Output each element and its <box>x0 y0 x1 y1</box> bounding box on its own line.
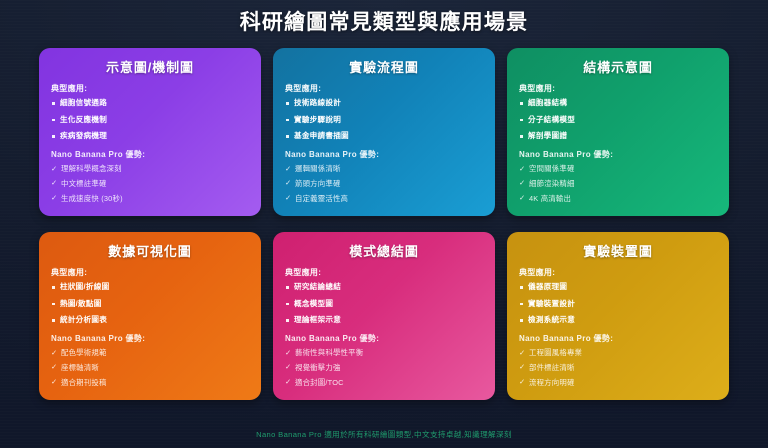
usage-list: 柱狀圖/折線圖 熱圖/散點圖 統計分析圖表 <box>51 283 249 324</box>
usage-item: 實驗裝置設計 <box>519 300 717 308</box>
advantage-list: ✓理解科學概念深刻 ✓中文標註準確 ✓生成速度快 (30秒) <box>51 165 249 202</box>
card-title: 實驗流程圖 <box>285 57 483 76</box>
card-experiment-flow[interactable]: 實驗流程圖 典型應用: 技術路線設計 實驗步驟說明 基金申請書插圖 Nano B… <box>273 48 495 216</box>
check-icon: ✓ <box>519 363 525 370</box>
usage-list: 技術路線設計 實驗步驟說明 基金申請書插圖 <box>285 99 483 140</box>
check-icon: ✓ <box>51 363 57 370</box>
usage-list: 研究結論總結 概念模型圖 理論框架示意 <box>285 283 483 324</box>
advantage-item: ✓箭頭方向準確 <box>285 180 483 187</box>
card-title: 實驗裝置圖 <box>519 241 717 260</box>
usage-item: 研究結論總結 <box>285 283 483 291</box>
advantage-item: ✓適合期刊投稿 <box>51 379 249 386</box>
advantage-item: ✓生成速度快 (30秒) <box>51 195 249 202</box>
advantage-text: 中文標註準確 <box>61 179 107 188</box>
check-icon: ✓ <box>51 179 57 186</box>
advantage-list: ✓藝術性與科學性平衡 ✓視覺衝擊力強 ✓適合封圖/TOC <box>285 349 483 386</box>
usage-item: 概念模型圖 <box>285 300 483 308</box>
check-icon: ✓ <box>519 194 525 201</box>
card-pattern-summary[interactable]: 模式總結圖 典型應用: 研究結論總結 概念模型圖 理論框架示意 Nano Ban… <box>273 232 495 400</box>
advantage-item: ✓流程方向明確 <box>519 379 717 386</box>
advantage-heading: Nano Banana Pro 優勢: <box>285 333 483 344</box>
advantage-item: ✓細節渲染精細 <box>519 180 717 187</box>
check-icon: ✓ <box>519 349 525 356</box>
check-icon: ✓ <box>285 349 291 356</box>
card-title: 結構示意圖 <box>519 57 717 76</box>
advantage-text: 部件標註清晰 <box>529 363 575 372</box>
advantage-text: 細節渲染精細 <box>529 179 575 188</box>
advantage-item: ✓空間關係準確 <box>519 165 717 172</box>
usage-item: 生化反應機制 <box>51 116 249 124</box>
usage-item: 疾病發病機理 <box>51 132 249 140</box>
usage-heading: 典型應用: <box>285 267 483 278</box>
card-title: 數據可視化圖 <box>51 241 249 260</box>
usage-item: 統計分析圖表 <box>51 316 249 324</box>
usage-item: 解剖學圖譜 <box>519 132 717 140</box>
advantage-list: ✓配色學術規範 ✓座標軸清晰 ✓適合期刊投稿 <box>51 349 249 386</box>
usage-list: 細胞信號通路 生化反應機制 疾病發病機理 <box>51 99 249 140</box>
advantage-item: ✓自定義靈活性高 <box>285 195 483 202</box>
advantage-text: 邏輯關係清晰 <box>295 164 341 173</box>
usage-item: 檢測系統示意 <box>519 316 717 324</box>
advantage-text: 流程方向明確 <box>529 378 575 387</box>
check-icon: ✓ <box>519 378 525 385</box>
advantage-text: 藝術性與科學性平衡 <box>295 348 363 357</box>
card-title: 示意圖/機制圖 <box>51 57 249 76</box>
advantage-list: ✓工程圖風格專業 ✓部件標註清晰 ✓流程方向明確 <box>519 349 717 386</box>
advantage-item: ✓邏輯關係清晰 <box>285 165 483 172</box>
usage-list: 細胞器結構 分子結構模型 解剖學圖譜 <box>519 99 717 140</box>
advantage-list: ✓邏輯關係清晰 ✓箭頭方向準確 ✓自定義靈活性高 <box>285 165 483 202</box>
check-icon: ✓ <box>519 179 525 186</box>
usage-item: 基金申請書插圖 <box>285 132 483 140</box>
advantage-text: 工程圖風格專業 <box>529 348 582 357</box>
card-title: 模式總結圖 <box>285 241 483 260</box>
advantage-item: ✓視覺衝擊力強 <box>285 364 483 371</box>
advantage-heading: Nano Banana Pro 優勢: <box>285 149 483 160</box>
page-title: 科研繪圖常見類型與應用場景 <box>240 0 529 36</box>
advantage-text: 適合封圖/TOC <box>295 378 344 387</box>
usage-item: 儀器原理圖 <box>519 283 717 291</box>
advantage-heading: Nano Banana Pro 優勢: <box>51 149 249 160</box>
check-icon: ✓ <box>285 378 291 385</box>
check-icon: ✓ <box>519 165 525 172</box>
card-structure-schematic[interactable]: 結構示意圖 典型應用: 細胞器結構 分子結構模型 解剖學圖譜 Nano Bana… <box>507 48 729 216</box>
advantage-item: ✓配色學術規範 <box>51 349 249 356</box>
usage-list: 儀器原理圖 實驗裝置設計 檢測系統示意 <box>519 283 717 324</box>
usage-item: 柱狀圖/折線圖 <box>51 283 249 291</box>
advantage-item: ✓座標軸清晰 <box>51 364 249 371</box>
advantage-text: 理解科學概念深刻 <box>61 164 122 173</box>
advantage-text: 生成速度快 (30秒) <box>61 194 123 203</box>
advantage-item: ✓藝術性與科學性平衡 <box>285 349 483 356</box>
advantage-heading: Nano Banana Pro 優勢: <box>51 333 249 344</box>
advantage-item: ✓4K 高清輸出 <box>519 195 717 202</box>
advantage-text: 配色學術規範 <box>61 348 107 357</box>
card-data-visualization[interactable]: 數據可視化圖 典型應用: 柱狀圖/折線圖 熱圖/散點圖 統計分析圖表 Nano … <box>39 232 261 400</box>
usage-item: 細胞器結構 <box>519 99 717 107</box>
footer-note: Nano Banana Pro 適用於所有科研繪圖類型,中文支持卓越,知識理解深… <box>0 429 768 440</box>
usage-item: 實驗步驟說明 <box>285 116 483 124</box>
advantage-item: ✓工程圖風格專業 <box>519 349 717 356</box>
advantage-text: 4K 高清輸出 <box>529 194 571 203</box>
advantage-item: ✓適合封圖/TOC <box>285 379 483 386</box>
advantage-item: ✓部件標註清晰 <box>519 364 717 371</box>
advantage-item: ✓理解科學概念深刻 <box>51 165 249 172</box>
usage-heading: 典型應用: <box>519 267 717 278</box>
check-icon: ✓ <box>285 363 291 370</box>
usage-item: 熱圖/散點圖 <box>51 300 249 308</box>
usage-heading: 典型應用: <box>519 83 717 94</box>
advantage-text: 箭頭方向準確 <box>295 179 341 188</box>
advantage-item: ✓中文標註準確 <box>51 180 249 187</box>
infographic-page: 科研繪圖常見類型與應用場景 示意圖/機制圖 典型應用: 細胞信號通路 生化反應機… <box>0 0 768 448</box>
usage-item: 理論框架示意 <box>285 316 483 324</box>
check-icon: ✓ <box>51 194 57 201</box>
card-experimental-setup[interactable]: 實驗裝置圖 典型應用: 儀器原理圖 實驗裝置設計 檢測系統示意 Nano Ban… <box>507 232 729 400</box>
advantage-text: 空間關係準確 <box>529 164 575 173</box>
advantage-heading: Nano Banana Pro 優勢: <box>519 149 717 160</box>
advantage-text: 座標軸清晰 <box>61 363 99 372</box>
usage-heading: 典型應用: <box>51 267 249 278</box>
advantage-heading: Nano Banana Pro 優勢: <box>519 333 717 344</box>
advantage-text: 自定義靈活性高 <box>295 194 348 203</box>
advantage-text: 適合期刊投稿 <box>61 378 107 387</box>
check-icon: ✓ <box>51 378 57 385</box>
advantage-list: ✓空間關係準確 ✓細節渲染精細 ✓4K 高清輸出 <box>519 165 717 202</box>
advantage-text: 視覺衝擊力強 <box>295 363 341 372</box>
usage-heading: 典型應用: <box>285 83 483 94</box>
diagram-type-card-grid: 示意圖/機制圖 典型應用: 細胞信號通路 生化反應機制 疾病發病機理 Nano … <box>39 48 729 400</box>
usage-item: 技術路線設計 <box>285 99 483 107</box>
usage-item: 分子結構模型 <box>519 116 717 124</box>
check-icon: ✓ <box>285 179 291 186</box>
check-icon: ✓ <box>285 194 291 201</box>
usage-item: 細胞信號通路 <box>51 99 249 107</box>
check-icon: ✓ <box>285 165 291 172</box>
card-schematic-mechanism[interactable]: 示意圖/機制圖 典型應用: 細胞信號通路 生化反應機制 疾病發病機理 Nano … <box>39 48 261 216</box>
check-icon: ✓ <box>51 349 57 356</box>
check-icon: ✓ <box>51 165 57 172</box>
usage-heading: 典型應用: <box>51 83 249 94</box>
